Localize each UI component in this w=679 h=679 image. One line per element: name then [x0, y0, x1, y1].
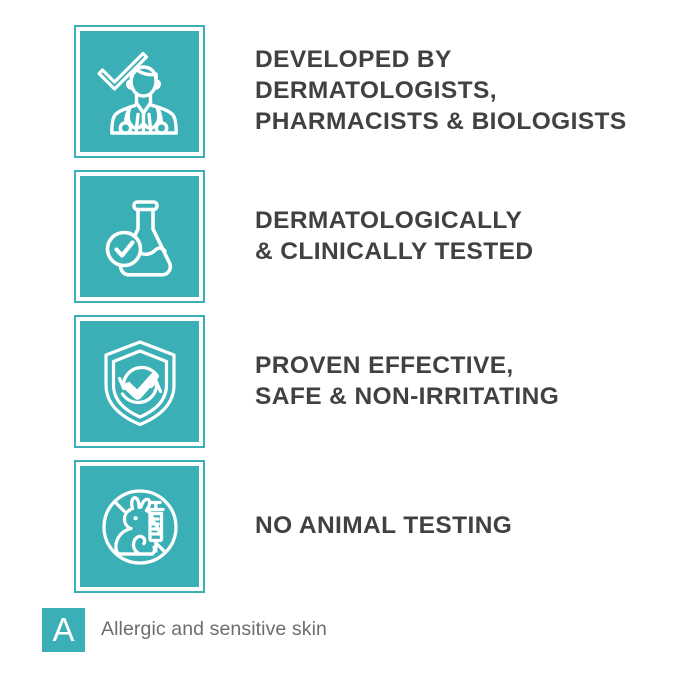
- shield-check-icon: [80, 321, 199, 442]
- allergic-skin-badge: A: [42, 608, 85, 652]
- feature-row: DERMATOLOGICALLY & CLINICALLY TESTED: [74, 170, 674, 303]
- feature-row: NO ANIMAL TESTING: [74, 460, 674, 593]
- feature-row: DEVELOPED BY DERMATOLOGISTS, PHARMACISTS…: [74, 25, 674, 158]
- feature-label: DEVELOPED BY DERMATOLOGISTS, PHARMACISTS…: [255, 45, 627, 138]
- no-animal-testing-icon-tile: [74, 460, 205, 593]
- doctor-check-icon-tile: [74, 25, 205, 158]
- flask-check-icon: [80, 176, 199, 297]
- flask-check-icon-tile: [74, 170, 205, 303]
- feature-label: DERMATOLOGICALLY & CLINICALLY TESTED: [255, 206, 534, 268]
- feature-claims-panel: DEVELOPED BY DERMATOLOGISTS, PHARMACISTS…: [0, 0, 679, 679]
- feature-label: NO ANIMAL TESTING: [255, 511, 512, 542]
- allergic-skin-label: Allergic and sensitive skin: [101, 620, 327, 640]
- feature-row: PROVEN EFFECTIVE, SAFE & NON-IRRITATING: [74, 315, 674, 448]
- footer-skin-type: A Allergic and sensitive skin: [42, 608, 327, 652]
- no-animal-testing-icon: [80, 466, 199, 587]
- doctor-check-icon: [80, 31, 199, 152]
- feature-label: PROVEN EFFECTIVE, SAFE & NON-IRRITATING: [255, 351, 559, 413]
- shield-check-icon-tile: [74, 315, 205, 448]
